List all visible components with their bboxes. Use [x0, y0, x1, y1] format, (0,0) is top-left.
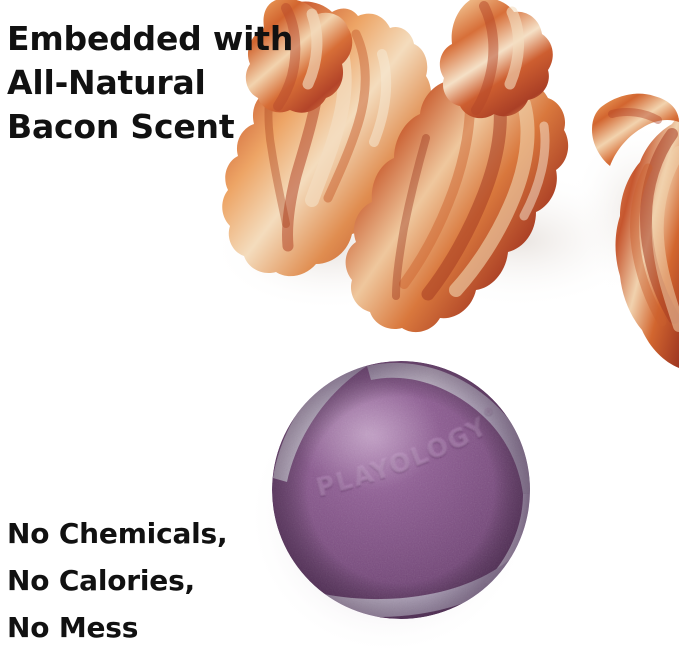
headline-line-1: Embedded with — [7, 17, 293, 61]
benefit-line-2: No Calories, — [7, 557, 227, 604]
headline-line-3: Bacon Scent — [7, 105, 293, 149]
playology-ball-photo: PLAYOLOGY ® — [271, 360, 531, 665]
benefit-line-1: No Chemicals, — [7, 510, 227, 557]
headline-line-2: All-Natural — [7, 61, 293, 105]
product-feature-image: Embedded with All-Natural Bacon Scent — [0, 0, 679, 665]
ball-illustration: PLAYOLOGY ® — [271, 360, 531, 665]
scent-feature-headline: Embedded with All-Natural Bacon Scent — [7, 17, 293, 149]
benefit-line-3: No Mess — [7, 604, 227, 651]
product-benefits-list: No Chemicals, No Calories, No Mess — [7, 510, 227, 651]
